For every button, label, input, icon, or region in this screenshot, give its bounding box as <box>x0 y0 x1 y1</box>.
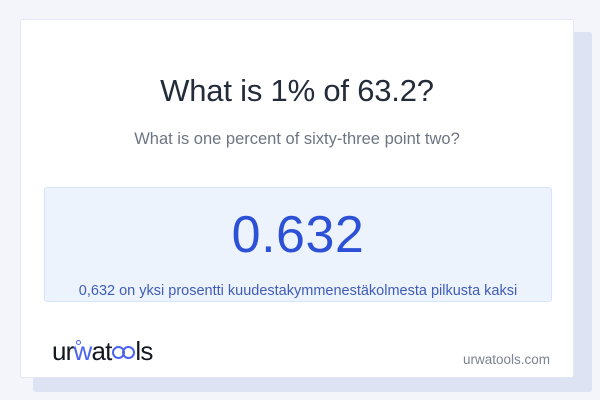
logo-segment-at: at <box>92 338 112 364</box>
logo-wordmark: ur w at ls <box>52 338 153 364</box>
page-title: What is 1% of 63.2? <box>21 73 573 109</box>
site-url[interactable]: urwatools.com <box>463 352 550 367</box>
result-box: 0.632 0,632 on yksi prosentti kuudestaky… <box>44 187 552 302</box>
result-caption: 0,632 on yksi prosentti kuudestakymmenes… <box>45 283 551 299</box>
page-subtitle: What is one percent of sixty-three point… <box>21 130 573 149</box>
logo-segment-ur: ur <box>52 338 74 364</box>
result-value: 0.632 <box>45 209 551 261</box>
glasses-lens-right <box>122 346 135 359</box>
logo-dot-icon <box>76 340 81 345</box>
logo[interactable]: ur w at ls <box>52 334 153 368</box>
glasses-icon <box>112 346 136 359</box>
result-card: What is 1% of 63.2? What is one percent … <box>20 19 574 378</box>
logo-segment-ls: ls <box>135 338 152 364</box>
page-stage: What is 1% of 63.2? What is one percent … <box>0 0 600 400</box>
